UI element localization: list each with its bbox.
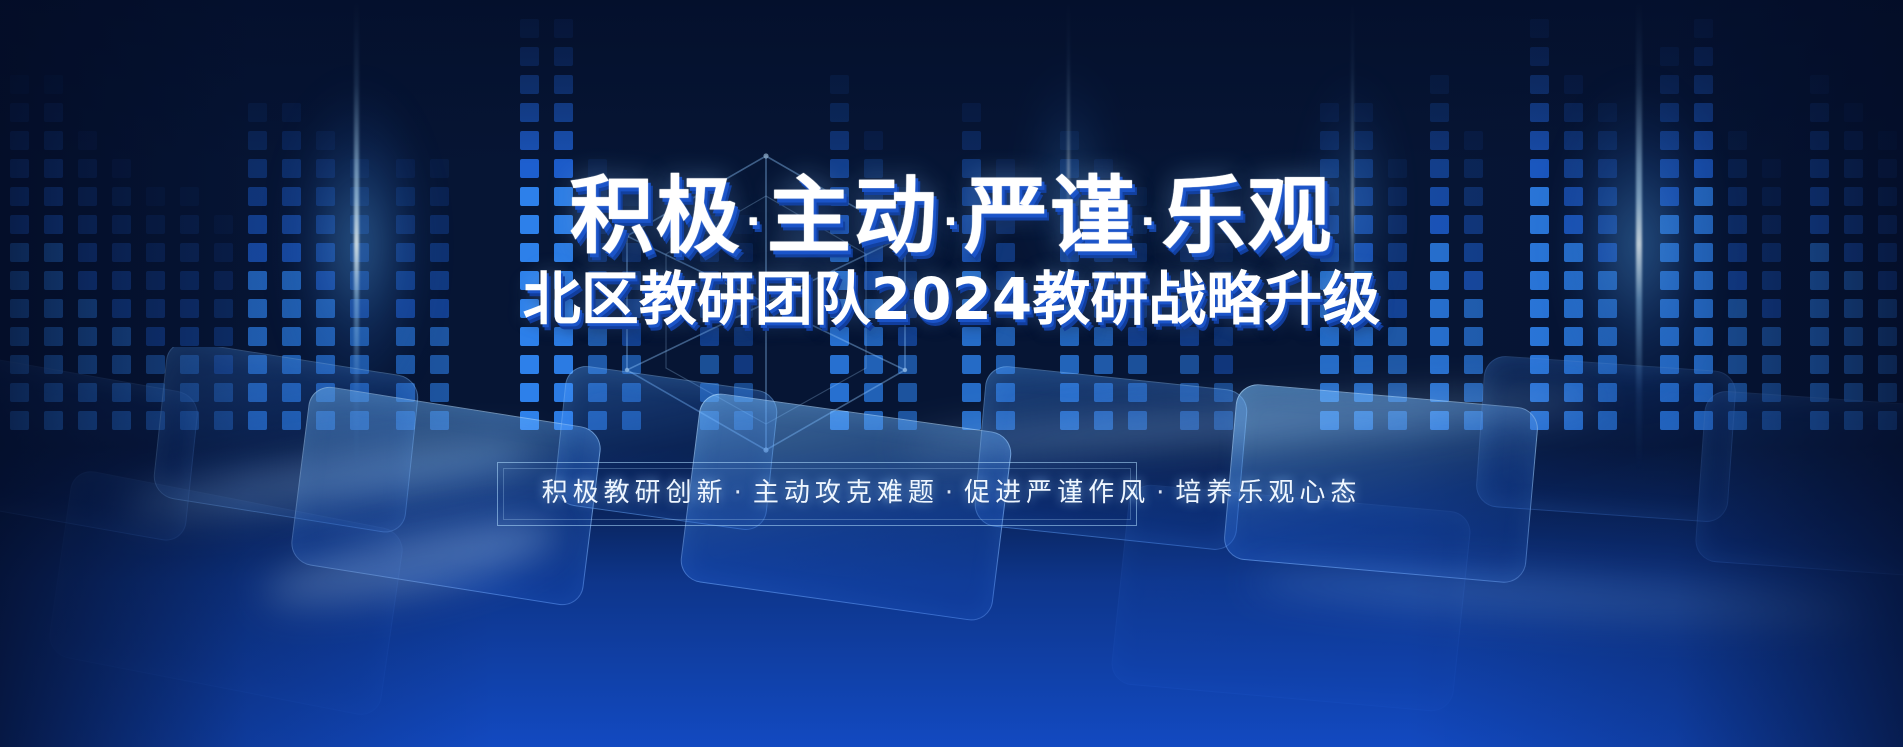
title-separator-dot: · (742, 199, 767, 245)
main-title-segment-3: 严谨 (964, 167, 1136, 265)
tagline-separator-dot: · (728, 478, 753, 508)
title-separator-dot: · (1136, 199, 1161, 245)
main-title-segment-1: 积极 (570, 167, 742, 265)
tagline-item-3: 促进严谨作风 (964, 478, 1150, 508)
main-title-segment-2: 主动 (767, 167, 939, 265)
banner-content: 积极·主动·严谨·乐观 北区教研团队2024教研战略升级 积极教研创新·主动攻克… (0, 0, 1903, 747)
banner-tagline: 积极教研创新·主动攻克难题·促进严谨作风·培养乐观心态 (0, 475, 1903, 511)
banner-sub-title: 北区教研团队2024教研战略升级 (0, 270, 1903, 328)
main-title-segment-4: 乐观 (1161, 167, 1333, 265)
tagline-item-1: 积极教研创新 (542, 478, 728, 508)
tagline-item-2: 主动攻克难题 (753, 478, 939, 508)
tagline-separator-dot: · (1150, 478, 1175, 508)
banner-main-title: 积极·主动·严谨·乐观 (0, 174, 1903, 258)
tagline-separator-dot: · (939, 478, 964, 508)
tagline-item-4: 培养乐观心态 (1175, 478, 1361, 508)
title-separator-dot: · (939, 199, 964, 245)
promo-banner: 积极·主动·严谨·乐观 北区教研团队2024教研战略升级 积极教研创新·主动攻克… (0, 0, 1903, 747)
